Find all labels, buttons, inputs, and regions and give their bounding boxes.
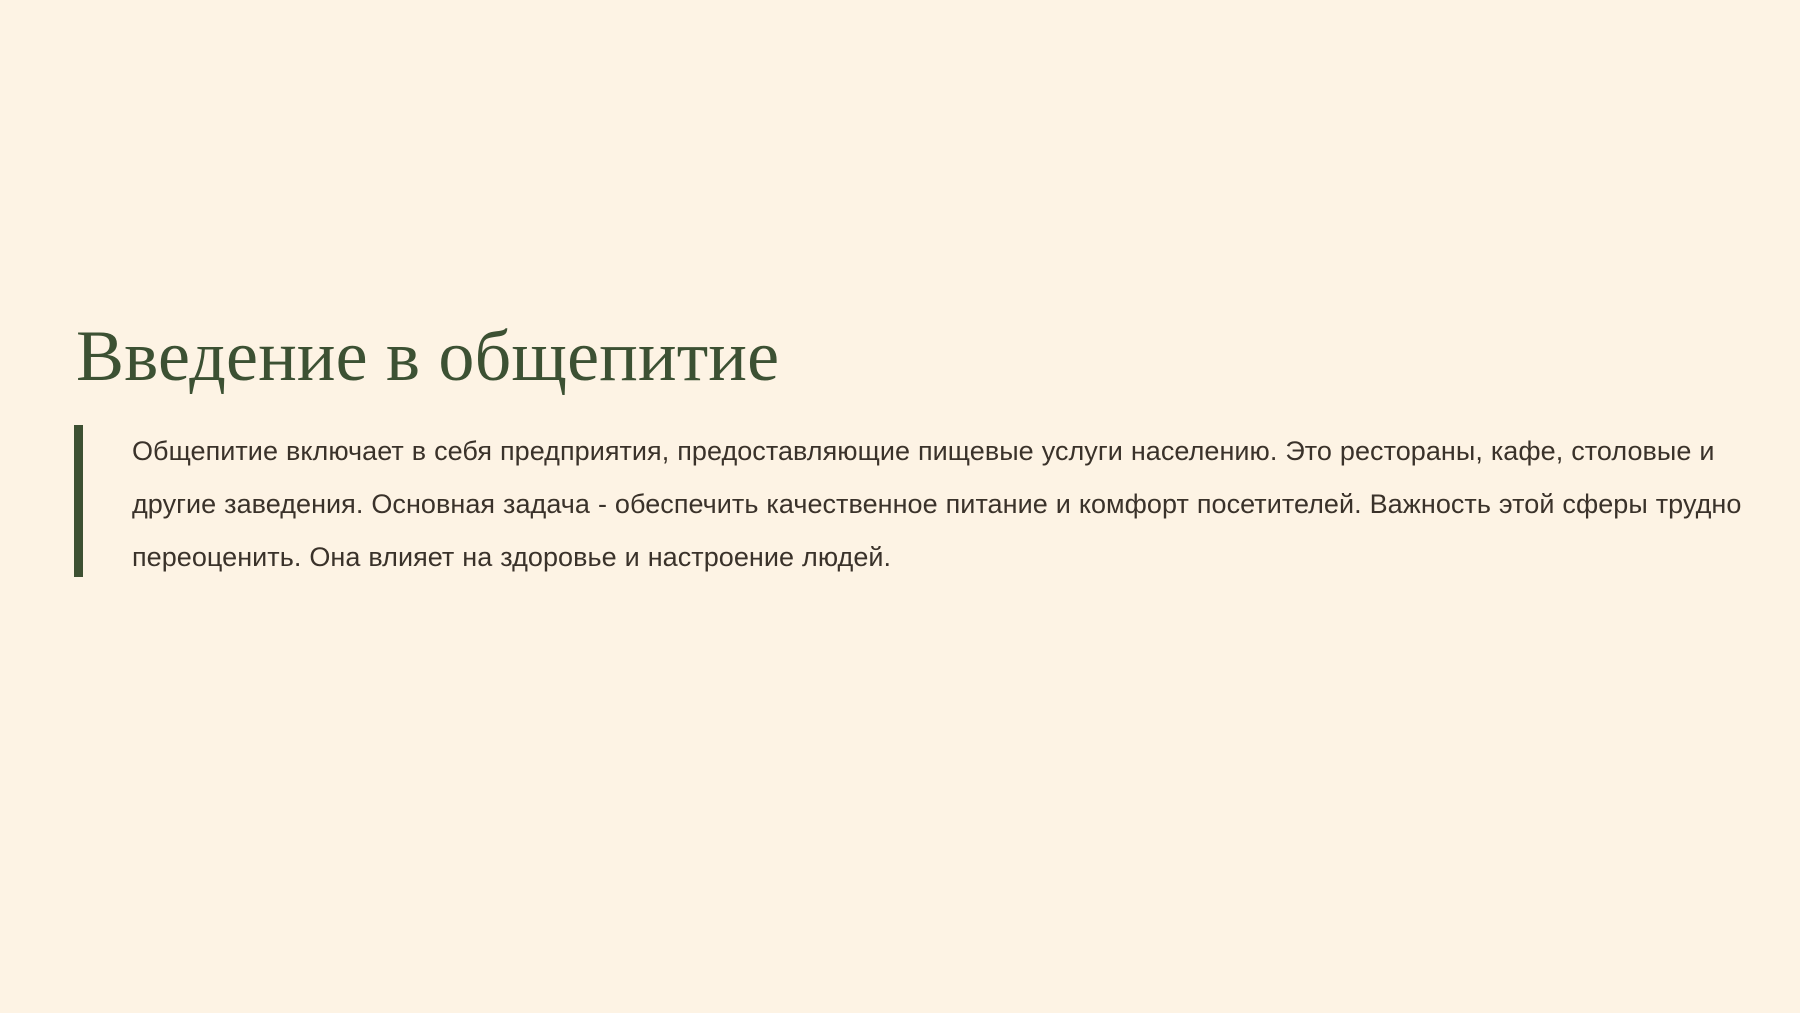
slide-canvas: Введение в общепитие Общепитие включает …: [0, 0, 1800, 1013]
accent-bar: [74, 425, 83, 577]
page-title: Введение в общепитие: [74, 320, 1754, 392]
content-block: Введение в общепитие Общепитие включает …: [74, 320, 1754, 584]
body-quote-block: Общепитие включает в себя предприятия, п…: [74, 425, 1754, 584]
body-paragraph: Общепитие включает в себя предприятия, п…: [132, 425, 1754, 584]
